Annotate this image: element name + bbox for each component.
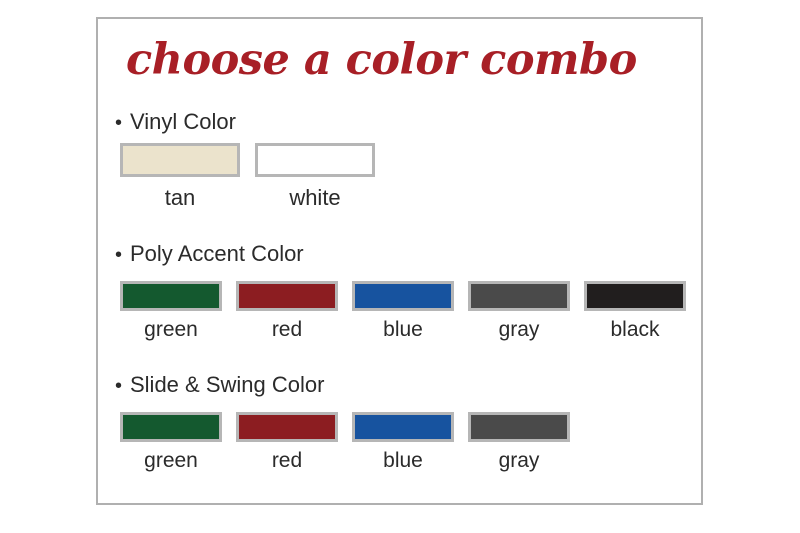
swatch-chip-gray[interactable] — [468, 281, 570, 311]
section-heading-label: Slide & Swing Color — [130, 372, 324, 397]
section-heading-label: Poly Accent Color — [130, 241, 304, 266]
section-heading-poly-accent-color: •Poly Accent Color — [115, 241, 304, 268]
swatch-chip-blue[interactable] — [352, 281, 454, 311]
swatch-label-black: black — [584, 318, 686, 342]
swatch-chip-white[interactable] — [255, 143, 375, 177]
swatch-chip-red[interactable] — [236, 412, 338, 442]
swatch-chip-blue[interactable] — [352, 412, 454, 442]
swatch-label-gray: gray — [468, 449, 570, 473]
swatch-label-tan: tan — [120, 186, 240, 210]
swatch-option-vinyl-color-tan[interactable]: tan — [120, 143, 240, 210]
section-heading-slide-swing-color: •Slide & Swing Color — [115, 372, 324, 399]
swatch-label-green: green — [120, 318, 222, 342]
bullet-icon: • — [115, 242, 130, 268]
swatch-label-blue: blue — [352, 318, 454, 342]
swatch-chip-green[interactable] — [120, 412, 222, 442]
swatch-option-slide-swing-color-green[interactable]: green — [120, 412, 236, 473]
page-title: choose a color combo — [126, 31, 637, 89]
color-combo-card: choose a color combo •Vinyl Colortanwhit… — [96, 17, 703, 505]
bullet-icon: • — [115, 110, 130, 136]
swatch-label-white: white — [255, 186, 375, 210]
swatch-option-poly-accent-color-blue[interactable]: blue — [352, 281, 468, 342]
swatch-option-slide-swing-color-gray[interactable]: gray — [468, 412, 584, 473]
swatch-chip-tan[interactable] — [120, 143, 240, 177]
swatch-chip-gray[interactable] — [468, 412, 570, 442]
swatch-option-poly-accent-color-green[interactable]: green — [120, 281, 236, 342]
swatch-option-vinyl-color-white[interactable]: white — [255, 143, 375, 210]
bullet-icon: • — [115, 373, 130, 399]
swatch-option-slide-swing-color-red[interactable]: red — [236, 412, 352, 473]
swatch-chip-black[interactable] — [584, 281, 686, 311]
section-heading-vinyl-color: •Vinyl Color — [115, 109, 236, 136]
swatch-option-poly-accent-color-gray[interactable]: gray — [468, 281, 584, 342]
swatch-label-red: red — [236, 449, 338, 473]
swatch-label-red: red — [236, 318, 338, 342]
page-canvas: choose a color combo •Vinyl Colortanwhit… — [0, 0, 800, 533]
swatch-label-green: green — [120, 449, 222, 473]
swatch-chip-green[interactable] — [120, 281, 222, 311]
swatch-option-slide-swing-color-blue[interactable]: blue — [352, 412, 468, 473]
section-heading-label: Vinyl Color — [130, 109, 236, 134]
swatch-label-gray: gray — [468, 318, 570, 342]
swatch-chip-red[interactable] — [236, 281, 338, 311]
swatch-label-blue: blue — [352, 449, 454, 473]
swatch-option-poly-accent-color-red[interactable]: red — [236, 281, 352, 342]
swatch-option-poly-accent-color-black[interactable]: black — [584, 281, 700, 342]
